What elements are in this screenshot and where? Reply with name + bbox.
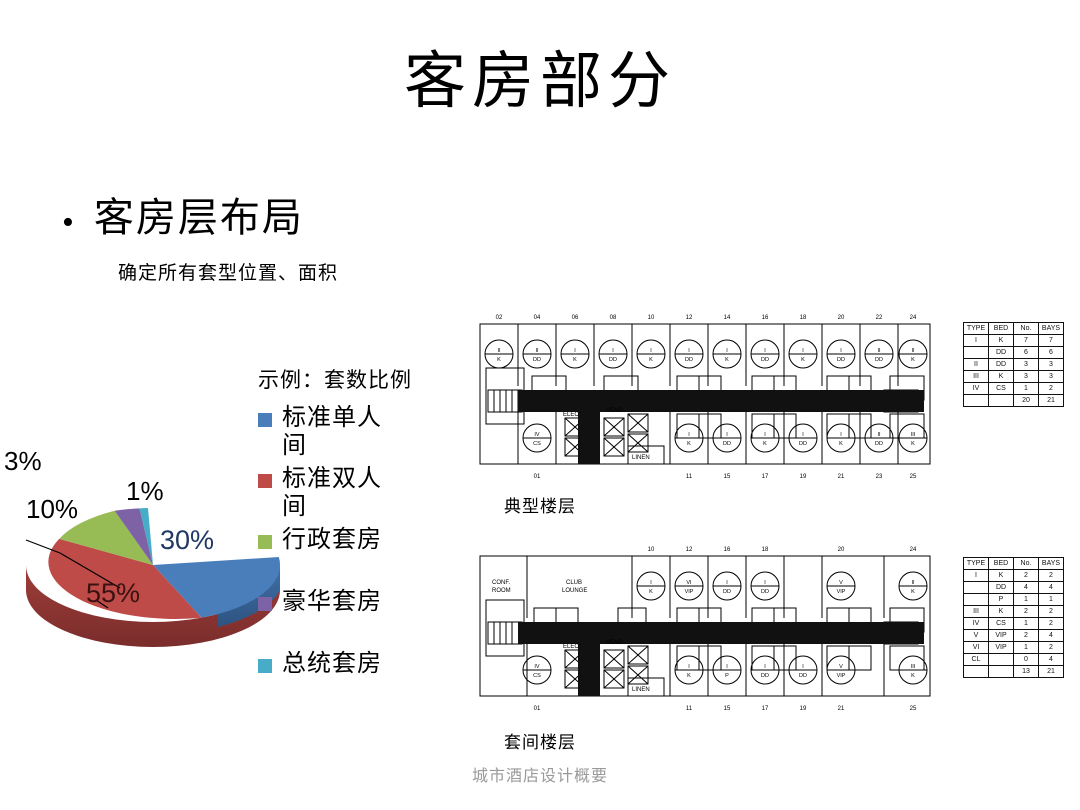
suite-floor-caption: 套间楼层 — [504, 728, 576, 753]
legend-swatch-icon — [258, 474, 272, 488]
table-row: II DD 3 3 — [964, 359, 1064, 371]
table-row: I K 2 2 — [964, 570, 1064, 582]
bullet-dot-icon: • — [62, 206, 74, 240]
svg-text:VIP: VIP — [685, 589, 694, 595]
pie-label-30: 30% — [160, 525, 214, 556]
table-cell: DD — [989, 582, 1014, 594]
svg-text:DD: DD — [875, 441, 883, 447]
table-total-row: 13 21 — [964, 666, 1064, 678]
table-cell: 3 — [1014, 371, 1039, 383]
table-row: V VIP 2 4 — [964, 630, 1064, 642]
legend-item-presidential-suite[interactable]: 总统套房 — [258, 650, 458, 678]
table-cell — [989, 666, 1014, 678]
svg-text:DD: DD — [761, 357, 769, 363]
bullet-subtitle: 确定所有套型位置、面积 — [118, 258, 338, 285]
svg-text:K: K — [839, 441, 843, 447]
suite-floor-plan-svg: IK VIVIP IDD IDD VVIP IIK IVCS IK IP IDD… — [472, 538, 942, 724]
pie-label-3: 3% — [4, 446, 42, 477]
table-cell — [964, 582, 989, 594]
svg-text:DD: DD — [533, 357, 541, 363]
svg-text:K: K — [911, 673, 915, 679]
svg-text:I: I — [802, 664, 804, 670]
svg-text:19: 19 — [800, 706, 807, 712]
svg-text:18: 18 — [762, 547, 769, 553]
legend-swatch-icon — [258, 413, 272, 427]
pie-label-55: 55% — [86, 578, 140, 609]
svg-text:01: 01 — [534, 706, 541, 712]
svg-text:25: 25 — [910, 474, 917, 480]
table-cell: 2 — [1039, 618, 1064, 630]
svg-text:I: I — [764, 664, 766, 670]
svg-text:I: I — [688, 432, 690, 438]
bullet-item: • 客房层布局 — [62, 196, 304, 240]
svg-text:DD: DD — [761, 589, 769, 595]
table-cell: 7 — [1039, 335, 1064, 347]
svg-text:21: 21 — [838, 474, 845, 480]
svg-text:K: K — [911, 357, 915, 363]
svg-text:08: 08 — [610, 315, 617, 321]
svg-text:20: 20 — [838, 315, 845, 321]
svg-text:III: III — [911, 664, 916, 670]
svg-text:II: II — [911, 580, 915, 586]
table-cell: 2 — [1039, 570, 1064, 582]
svg-text:III: III — [911, 432, 916, 438]
svg-text:19: 19 — [800, 474, 807, 480]
svg-text:12: 12 — [686, 315, 693, 321]
svg-text:IV: IV — [534, 664, 540, 670]
svg-text:17: 17 — [762, 706, 769, 712]
table-row: IV CS 1 2 — [964, 618, 1064, 630]
svg-text:I: I — [650, 348, 652, 354]
svg-text:16: 16 — [762, 315, 769, 321]
svg-text:21: 21 — [838, 706, 845, 712]
table-cell: 4 — [1039, 654, 1064, 666]
svg-text:K: K — [573, 357, 577, 363]
legend-item-standard-single[interactable]: 标准单人间 — [258, 404, 458, 459]
svg-text:ROOM: ROOM — [492, 588, 511, 594]
svg-text:I: I — [802, 432, 804, 438]
svg-text:DD: DD — [875, 357, 883, 363]
svg-text:I: I — [764, 432, 766, 438]
table-cell: 20 — [1014, 395, 1039, 407]
table-cell — [964, 594, 989, 606]
table-cell: 2 — [1014, 630, 1039, 642]
svg-text:K: K — [687, 673, 691, 679]
table-cell — [989, 395, 1014, 407]
table-total-row: 20 21 — [964, 395, 1064, 407]
table-row: I K 7 7 — [964, 335, 1064, 347]
svg-text:10: 10 — [648, 547, 655, 553]
table-row: III K 2 2 — [964, 606, 1064, 618]
svg-text:K: K — [801, 357, 805, 363]
svg-text:17: 17 — [762, 474, 769, 480]
svg-text:I: I — [726, 580, 728, 586]
svg-text:DD: DD — [799, 441, 807, 447]
svg-text:II: II — [877, 432, 881, 438]
table-cell: 2 — [1039, 642, 1064, 654]
svg-text:I: I — [802, 348, 804, 354]
table-header-cell: No. — [1014, 323, 1039, 335]
legend-item-label: 标准单人间 — [282, 404, 402, 459]
svg-text:I: I — [726, 348, 728, 354]
pie-label-10: 10% — [26, 494, 78, 525]
table-header-cell: No. — [1014, 558, 1039, 570]
svg-text:K: K — [687, 441, 691, 447]
room-mix-table-typical: TYPE BED No. BAYS I K 7 7 DD 6 6 II DD 3… — [963, 322, 1064, 407]
table-cell: 1 — [1014, 594, 1039, 606]
table-row: DD 4 4 — [964, 582, 1064, 594]
suite-floor-plan: IK VIVIP IDD IDD VVIP IIK IVCS IK IP IDD… — [472, 538, 942, 724]
table-row: P 1 1 — [964, 594, 1064, 606]
legend-title: 示例：套数比例 — [258, 364, 458, 394]
svg-text:K: K — [763, 441, 767, 447]
svg-text:DD: DD — [723, 589, 731, 595]
table-cell — [964, 666, 989, 678]
svg-text:K: K — [649, 357, 653, 363]
table-cell: 1 — [1014, 642, 1039, 654]
svg-text:ELEC: ELEC — [563, 412, 579, 418]
svg-text:I: I — [840, 348, 842, 354]
svg-text:11: 11 — [686, 474, 693, 480]
table-cell: VI — [964, 642, 989, 654]
svg-text:V: V — [839, 664, 843, 670]
svg-text:DD: DD — [837, 357, 845, 363]
svg-text:K: K — [911, 441, 915, 447]
svg-text:10: 10 — [648, 315, 655, 321]
table-cell: 3 — [1039, 371, 1064, 383]
table-header-cell: BAYS — [1039, 558, 1064, 570]
table-cell: 1 — [1014, 383, 1039, 395]
table-cell: I — [964, 335, 989, 347]
table-cell: 2 — [1014, 606, 1039, 618]
svg-text:04: 04 — [534, 315, 541, 321]
svg-text:16: 16 — [724, 547, 731, 553]
table-header-cell: BED — [989, 558, 1014, 570]
legend-item-executive-suite[interactable]: 行政套房 — [258, 526, 458, 554]
table-cell: 3 — [1039, 359, 1064, 371]
svg-text:DD: DD — [761, 673, 769, 679]
svg-text:CS: CS — [533, 673, 541, 679]
page-title: 客房部分 — [0, 48, 1080, 113]
svg-text:24: 24 — [910, 315, 917, 321]
table-cell — [964, 395, 989, 407]
table-cell: DD — [989, 347, 1014, 359]
svg-text:LINEN: LINEN — [632, 687, 650, 693]
table-cell: 2 — [1039, 606, 1064, 618]
svg-text:14: 14 — [724, 315, 731, 321]
pie-label-1: 1% — [126, 476, 164, 507]
svg-text:K: K — [497, 357, 501, 363]
table-cell — [989, 654, 1014, 666]
svg-text:25: 25 — [910, 706, 917, 712]
svg-text:LOUNGE: LOUNGE — [562, 588, 587, 594]
svg-text:CLUB: CLUB — [566, 580, 582, 586]
svg-text:02: 02 — [496, 315, 503, 321]
legend-item-label: 总统套房 — [282, 650, 402, 678]
legend-item-deluxe-suite[interactable]: 豪华套房 — [258, 588, 458, 616]
svg-text:12: 12 — [686, 547, 693, 553]
svg-text:I: I — [726, 432, 728, 438]
table-cell: 6 — [1014, 347, 1039, 359]
svg-text:DD: DD — [609, 357, 617, 363]
svg-text:18: 18 — [800, 315, 807, 321]
table-cell: 21 — [1039, 666, 1064, 678]
table-header-row: TYPE BED No. BAYS — [964, 323, 1064, 335]
table-cell: 0 — [1014, 654, 1039, 666]
svg-text:VEND: VEND — [606, 408, 623, 414]
svg-text:I: I — [764, 348, 766, 354]
svg-text:20: 20 — [838, 547, 845, 553]
svg-text:VEND: VEND — [606, 640, 623, 646]
table-header-cell: BED — [989, 323, 1014, 335]
legend-swatch-icon — [258, 535, 272, 549]
svg-text:I: I — [764, 580, 766, 586]
table-header-cell: TYPE — [964, 323, 989, 335]
svg-text:ELEC: ELEC — [563, 644, 579, 650]
svg-text:CONF.: CONF. — [492, 580, 510, 586]
table-header-row: TYPE BED No. BAYS — [964, 558, 1064, 570]
svg-text:II: II — [535, 348, 539, 354]
svg-text:I: I — [574, 348, 576, 354]
svg-text:I: I — [688, 664, 690, 670]
typical-floor-caption: 典型楼层 — [504, 492, 576, 517]
svg-text:VIP: VIP — [837, 673, 846, 679]
svg-text:I: I — [688, 348, 690, 354]
svg-text:P: P — [725, 673, 729, 679]
svg-text:I: I — [650, 580, 652, 586]
svg-text:IV: IV — [534, 432, 540, 438]
table-cell: 4 — [1014, 582, 1039, 594]
svg-text:I: I — [726, 664, 728, 670]
table-cell — [964, 347, 989, 359]
svg-text:I: I — [612, 348, 614, 354]
svg-text:K: K — [649, 589, 653, 595]
table-row: III K 3 3 — [964, 371, 1064, 383]
table-cell: 3 — [1014, 359, 1039, 371]
room-mix-table-suite: TYPE BED No. BAYS I K 2 2 DD 4 4 P 1 1 I… — [963, 557, 1064, 678]
table-cell: VIP — [989, 630, 1014, 642]
typical-floor-plan: IIK IIDD IK IDD IK IDD IK IDD IK IDD IID… — [472, 306, 942, 486]
table-cell: CL — [964, 654, 989, 666]
svg-text:DD: DD — [685, 357, 693, 363]
svg-text:II: II — [497, 348, 501, 354]
table-cell: 7 — [1014, 335, 1039, 347]
table-header-cell: TYPE — [964, 558, 989, 570]
table-cell: IV — [964, 618, 989, 630]
table-cell: 1 — [1039, 594, 1064, 606]
svg-text:II: II — [911, 348, 915, 354]
table-cell: K — [989, 606, 1014, 618]
legend-item-label: 标准双人间 — [282, 465, 402, 520]
table-cell: CS — [989, 383, 1014, 395]
table-row: DD 6 6 — [964, 347, 1064, 359]
svg-text:15: 15 — [724, 706, 731, 712]
table-cell: 4 — [1039, 582, 1064, 594]
table-cell: 6 — [1039, 347, 1064, 359]
table-cell: 2 — [1014, 570, 1039, 582]
table-cell: P — [989, 594, 1014, 606]
svg-text:06: 06 — [572, 315, 579, 321]
svg-text:22: 22 — [876, 315, 883, 321]
typical-floor-plan-svg: IIK IIDD IK IDD IK IDD IK IDD IK IDD IID… — [472, 306, 942, 486]
svg-text:DD: DD — [799, 673, 807, 679]
svg-text:V: V — [839, 580, 843, 586]
table-cell: DD — [989, 359, 1014, 371]
table-cell: I — [964, 570, 989, 582]
table-cell: III — [964, 606, 989, 618]
table-cell: V — [964, 630, 989, 642]
table-cell: K — [989, 570, 1014, 582]
svg-text:15: 15 — [724, 474, 731, 480]
chart-legend: 示例：套数比例 标准单人间 标准双人间 行政套房 豪华套房 总统套房 — [258, 364, 458, 683]
slide-footer: 城市酒店设计概要 — [0, 762, 1080, 786]
table-cell: 1 — [1014, 618, 1039, 630]
table-cell: K — [989, 335, 1014, 347]
svg-text:24: 24 — [910, 547, 917, 553]
legend-swatch-icon — [258, 659, 272, 673]
table-cell: II — [964, 359, 989, 371]
table-cell: III — [964, 371, 989, 383]
svg-text:LINEN: LINEN — [632, 455, 650, 461]
svg-text:K: K — [911, 589, 915, 595]
svg-text:I: I — [840, 432, 842, 438]
legend-swatch-icon — [258, 597, 272, 611]
table-cell: 13 — [1014, 666, 1039, 678]
svg-text:11: 11 — [686, 706, 693, 712]
table-cell: IV — [964, 383, 989, 395]
legend-item-label: 行政套房 — [282, 526, 402, 554]
bullet-heading: 客房层布局 — [94, 196, 304, 240]
table-row: CL 0 4 — [964, 654, 1064, 666]
table-cell: 2 — [1039, 383, 1064, 395]
svg-text:CS: CS — [533, 441, 541, 447]
svg-text:01: 01 — [534, 474, 541, 480]
table-cell: 21 — [1039, 395, 1064, 407]
svg-text:VIP: VIP — [837, 589, 846, 595]
table-header-cell: BAYS — [1039, 323, 1064, 335]
table-cell: CS — [989, 618, 1014, 630]
table-cell: K — [989, 371, 1014, 383]
legend-item-label: 豪华套房 — [282, 588, 402, 616]
table-cell: 4 — [1039, 630, 1064, 642]
svg-text:II: II — [877, 348, 881, 354]
svg-text:K: K — [725, 357, 729, 363]
table-cell: VIP — [989, 642, 1014, 654]
table-row: IV CS 1 2 — [964, 383, 1064, 395]
table-row: VI VIP 1 2 — [964, 642, 1064, 654]
svg-text:DD: DD — [723, 441, 731, 447]
svg-text:VI: VI — [686, 580, 692, 586]
svg-text:23: 23 — [876, 474, 883, 480]
legend-item-standard-double[interactable]: 标准双人间 — [258, 465, 458, 520]
